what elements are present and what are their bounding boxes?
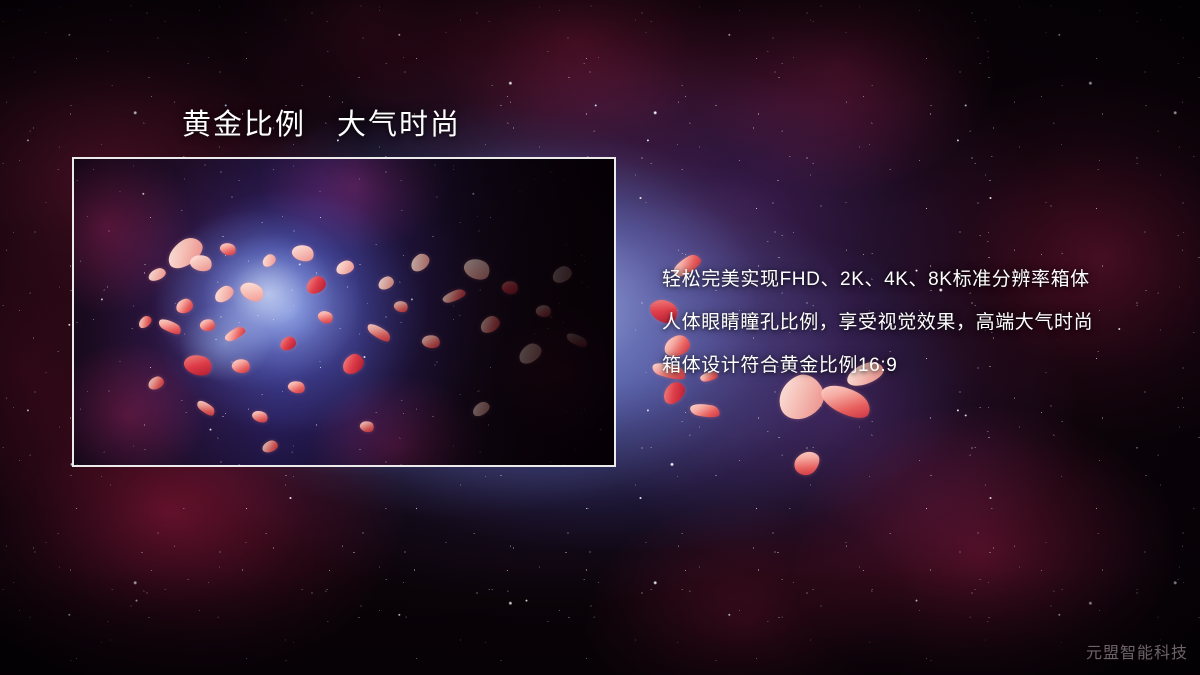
company-watermark: 元盟智能科技 [1086, 639, 1188, 663]
golden-ratio-image-frame [72, 157, 616, 467]
body-copy-block: 轻松完美实现FHD、2K、4K、8K标准分辨率箱体 人体眼睛瞳孔比例，享受视觉效… [662, 258, 1172, 387]
body-line-1: 轻松完美实现FHD、2K、4K、8K标准分辨率箱体 [662, 258, 1172, 301]
body-line-2: 人体眼睛瞳孔比例，享受视觉效果，高端大气时尚 [662, 301, 1172, 344]
presentation-slide: 黄金比例 大气时尚 轻松完美实现FHD、2K、4K、8K标准分辨率箱体 人体眼睛… [0, 0, 1200, 675]
frame-vignette [74, 159, 614, 465]
petal-outer-10 [790, 446, 824, 480]
frame-image-content [74, 159, 614, 465]
petal-outer-6 [689, 401, 721, 420]
body-line-3: 箱体设计符合黄金比例16:9 [662, 344, 1172, 387]
page-title: 黄金比例 大气时尚 [182, 101, 461, 143]
